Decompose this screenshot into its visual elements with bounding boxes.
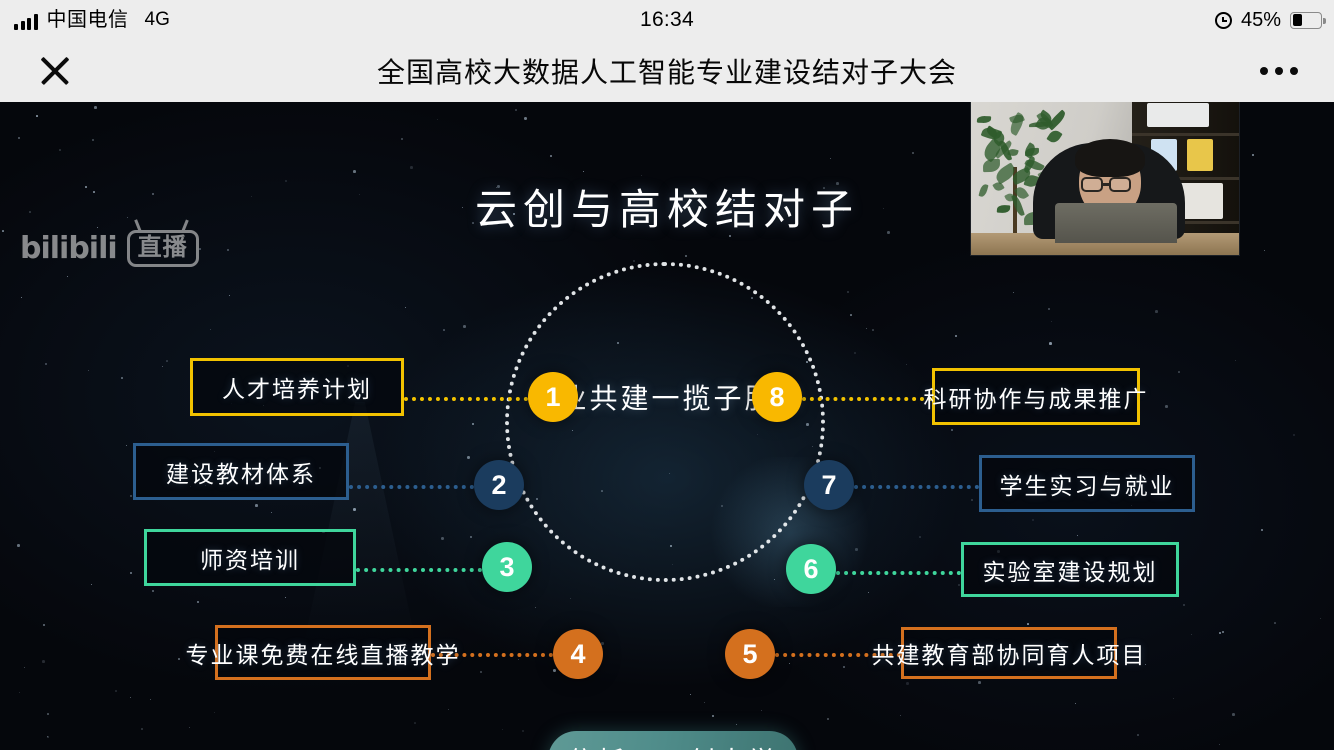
diagram-node-label: 2 <box>491 470 506 501</box>
diagram-box-left-1: 人才培养计划 <box>190 358 404 416</box>
diagram-node-label: 4 <box>570 639 585 670</box>
connector-line-right-3 <box>836 571 961 575</box>
circular-dotted-ring <box>505 262 825 582</box>
shelf-item <box>1187 139 1213 171</box>
diagram-box-left-4: 专业课免费在线直播教学 <box>215 625 431 680</box>
diagram-node-5: 5 <box>725 629 775 679</box>
diagram-node-label: 8 <box>769 382 784 413</box>
status-bar: 中国电信 4G 16:34 45% <box>0 0 1334 40</box>
slide-title: 云创与高校结对子 <box>0 176 1334 237</box>
shelf-item <box>1147 103 1209 127</box>
connector-line-right-2 <box>854 485 979 489</box>
diagram-node-label: 5 <box>742 639 757 670</box>
diagram-box-right-2: 学生实习与就业 <box>979 455 1195 512</box>
alarm-clock-icon <box>1215 12 1232 29</box>
footer-pill: 依托于云创大学 <box>548 731 798 750</box>
status-bar-right: 45% <box>1215 9 1322 32</box>
live-badge-label: 直播 <box>138 234 188 261</box>
connector-line-left-1 <box>404 397 528 401</box>
close-icon[interactable] <box>38 54 72 88</box>
diagram-box-label: 人才培养计划 <box>222 370 372 404</box>
diagram-box-label: 共建教育部协同育人项目 <box>872 636 1147 670</box>
connector-line-right-1 <box>802 397 932 401</box>
diagram-node-8: 8 <box>752 372 802 422</box>
diagram-node-4: 4 <box>553 629 603 679</box>
status-bar-clock: 16:34 <box>0 8 1334 32</box>
diagram-node-7: 7 <box>804 460 854 510</box>
diagram-box-left-3: 师资培训 <box>144 529 356 586</box>
presenter-hair <box>1075 139 1145 177</box>
nav-bar: 全国高校大数据人工智能专业建设结对子大会 <box>0 40 1334 102</box>
diagram-node-2: 2 <box>474 460 524 510</box>
diagram-box-label: 学生实习与就业 <box>1000 467 1175 501</box>
diagram-box-label: 建设教材体系 <box>166 455 316 489</box>
shelf-board <box>1132 133 1239 136</box>
diagram-node-3: 3 <box>482 542 532 592</box>
battery-icon <box>1290 12 1322 29</box>
diagram-box-right-1: 科研协作与成果推广 <box>932 368 1140 425</box>
diagram-box-right-4: 共建教育部协同育人项目 <box>901 627 1117 679</box>
diagram-node-label: 1 <box>545 382 560 413</box>
more-options-icon[interactable] <box>1260 67 1298 75</box>
diagram-node-label: 3 <box>499 552 514 583</box>
diagram-box-left-2: 建设教材体系 <box>133 443 349 500</box>
diagram-node-label: 7 <box>821 470 836 501</box>
live-video-stage[interactable]: bilibili 直播 <box>0 102 1334 750</box>
diagram-box-label: 专业课免费在线直播教学 <box>186 636 461 670</box>
phone-screen: 中国电信 4G 16:34 45% 全国高校大数据人工智能专业建设结对子大会 b… <box>0 0 1334 750</box>
diagram-box-label: 实验室建设规划 <box>983 553 1158 587</box>
diagram-box-label: 科研协作与成果推广 <box>924 380 1149 414</box>
diagram-box-right-3: 实验室建设规划 <box>961 542 1179 597</box>
page-title: 全国高校大数据人工智能专业建设结对子大会 <box>377 51 957 91</box>
battery-percent-label: 45% <box>1241 9 1281 32</box>
connector-line-left-2 <box>349 485 474 489</box>
battery-fill <box>1293 14 1302 26</box>
diagram-box-label: 师资培训 <box>200 541 300 575</box>
connector-line-left-3 <box>356 568 482 572</box>
diagram-node-1: 1 <box>528 372 578 422</box>
diagram-node-6: 6 <box>786 544 836 594</box>
diagram-node-label: 6 <box>803 554 818 585</box>
